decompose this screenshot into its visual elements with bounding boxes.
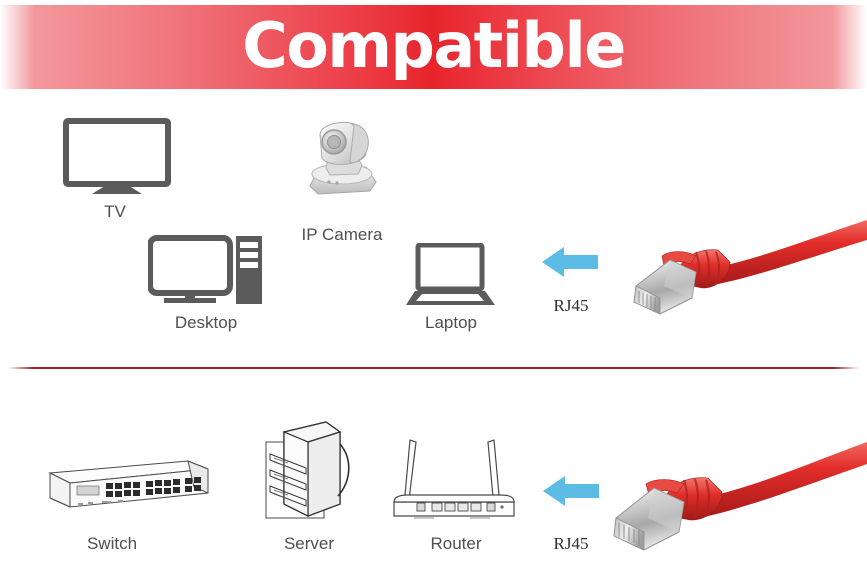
page-title: Compatible [0,5,867,89]
rj45-label-top: RJ45 [516,296,626,316]
left-arrow-icon [541,474,601,508]
server-label: Server [249,534,369,554]
network-switch-icon [32,455,212,517]
section-divider [8,367,859,369]
server-rack-icon [264,418,354,524]
desktop-label: Desktop [146,313,266,333]
switch-label: Switch [52,534,172,554]
ip-camera-icon [296,112,388,200]
header-banner: Compatible [0,5,867,89]
laptop-label: Laptop [391,313,511,333]
ethernet-cable-icon [626,214,867,324]
laptop-icon [406,243,496,309]
tv-label: TV [55,202,175,222]
tv-icon [58,118,176,196]
left-arrow-icon [540,245,600,279]
ethernet-cable-icon [606,440,867,558]
wifi-router-icon [390,430,520,520]
ip-camera-label: IP Camera [277,225,407,245]
router-label: Router [396,534,516,554]
desktop-computer-icon [148,235,264,307]
